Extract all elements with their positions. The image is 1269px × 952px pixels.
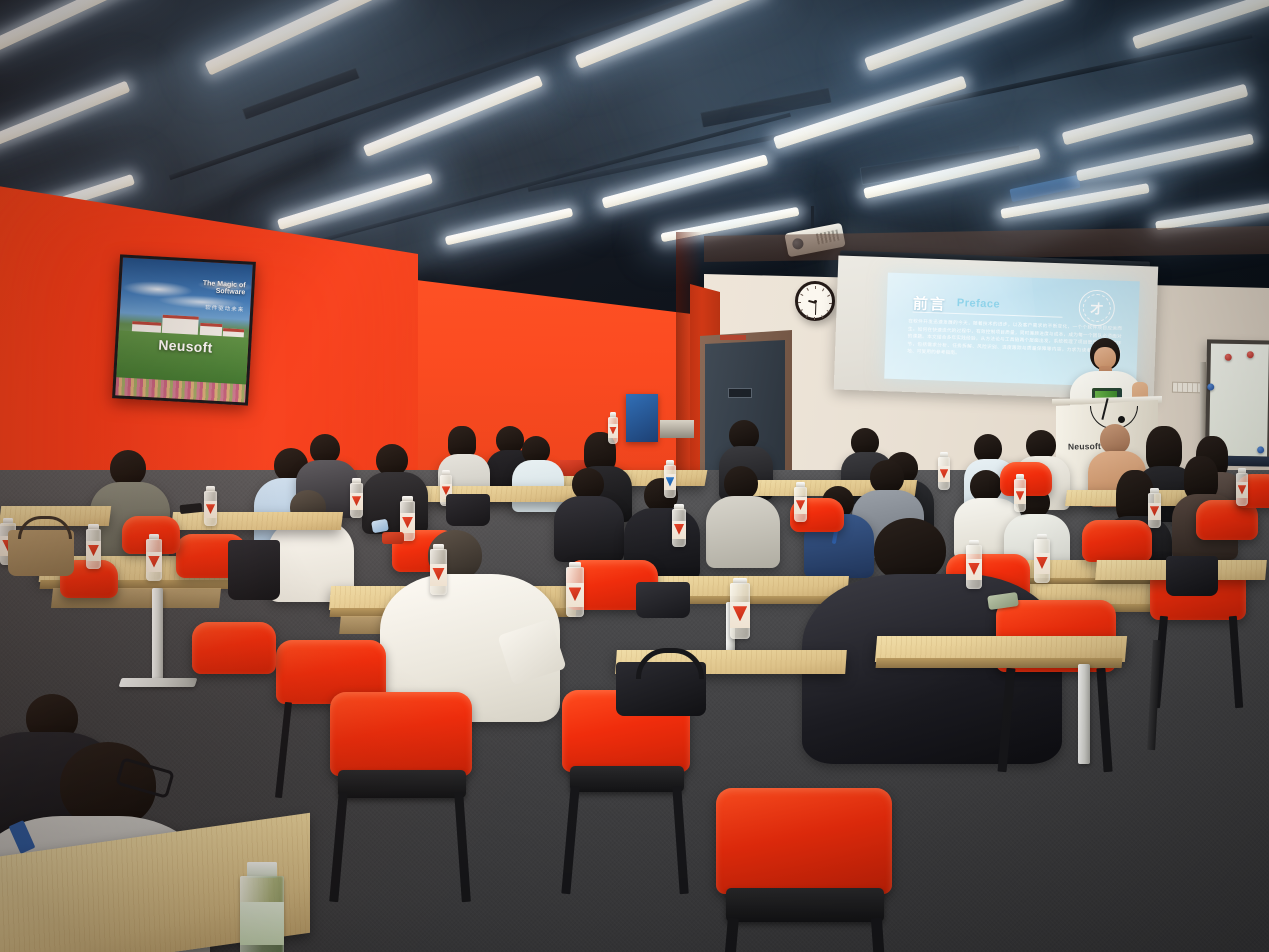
- wall-clock: [795, 281, 835, 321]
- clock-minute-hand: [815, 303, 817, 315]
- meeting-room-photo: The Magic of Software 软件驱动未来 Neusoft 前言 …: [0, 0, 1269, 952]
- bottle-label: [664, 474, 676, 490]
- bottle-label: [86, 541, 101, 560]
- magnet-red[interactable]: [1225, 354, 1232, 361]
- water-bottle: [350, 478, 363, 518]
- water-bottle: [566, 562, 584, 618]
- magnet-blue[interactable]: [1257, 446, 1264, 453]
- bottle-label: [1034, 553, 1050, 574]
- table-leg: [1078, 664, 1090, 764]
- bottle-label: [350, 493, 363, 510]
- door-sign-plate: [728, 388, 752, 398]
- water-bottle: [86, 524, 101, 570]
- bottle-label: [204, 501, 217, 518]
- slide-logo-emblem: 才: [1078, 289, 1115, 326]
- water-bottle: [1148, 488, 1161, 528]
- red-pouch: [382, 532, 404, 544]
- water-bottle: [938, 452, 950, 490]
- clock-center-pin: [814, 300, 817, 303]
- backpack: [228, 540, 280, 600]
- ceiling-lamp: [1155, 203, 1269, 231]
- door-top-trim: [720, 335, 746, 340]
- bottle-label: [430, 564, 447, 586]
- neusoft-wall-poster: The Magic of Software 软件驱动未来 Neusoft: [112, 254, 256, 405]
- poster-title-line2: Software: [215, 288, 245, 297]
- poster-logo: Neusoft: [158, 337, 213, 356]
- bottle-label: [400, 513, 415, 532]
- water-bottle: [430, 544, 447, 596]
- equipment-box: [660, 420, 694, 438]
- bottle-label: [938, 466, 950, 482]
- backpack: [636, 582, 690, 618]
- bottle-label: [146, 552, 162, 572]
- water-bottle: [204, 486, 217, 526]
- bottle-label: [730, 602, 750, 628]
- green-tea-bottle: [240, 862, 284, 952]
- water-bottle: [966, 540, 982, 590]
- bottle-label: [1148, 503, 1161, 520]
- blue-display-box: [626, 394, 658, 442]
- ceiling-lamp: [0, 0, 145, 54]
- bottle-label: [794, 497, 807, 514]
- water-bottle: [146, 534, 162, 582]
- slide-logo-mark: 才: [1090, 298, 1104, 317]
- water-bottle: [672, 504, 686, 548]
- bag: [1166, 556, 1218, 596]
- backpack: [446, 494, 490, 526]
- slide-title-rule: [913, 312, 1063, 318]
- water-bottle: [1236, 468, 1248, 506]
- bottle-label: [566, 583, 584, 607]
- bottle-label: [240, 902, 284, 944]
- table-base: [119, 678, 198, 687]
- water-bottle: [608, 412, 618, 444]
- magnet-blue[interactable]: [1207, 383, 1214, 390]
- wall-outlet-plate[interactable]: [1172, 382, 1202, 394]
- meeting-table: [171, 512, 343, 530]
- bottle-label: [608, 424, 618, 437]
- water-bottle: [664, 460, 676, 498]
- bottle-label: [1236, 482, 1248, 498]
- water-bottle: [730, 578, 750, 640]
- water-bottle: [1034, 534, 1050, 584]
- bottle-label: [672, 521, 686, 539]
- table-leg: [152, 588, 163, 684]
- water-bottle: [794, 482, 807, 522]
- poster-title: The Magic of Software: [202, 280, 246, 297]
- attendee-head: [874, 518, 946, 582]
- scene-title: Neusoft training room lecture: [10, 945, 23, 946]
- bottle-label: [966, 559, 982, 580]
- slide-title-en: Preface: [957, 297, 1001, 311]
- bottle-label: [1014, 488, 1026, 504]
- water-bottle: [1014, 474, 1026, 512]
- microphone-head: [1118, 416, 1125, 423]
- magnet-red[interactable]: [1247, 351, 1254, 358]
